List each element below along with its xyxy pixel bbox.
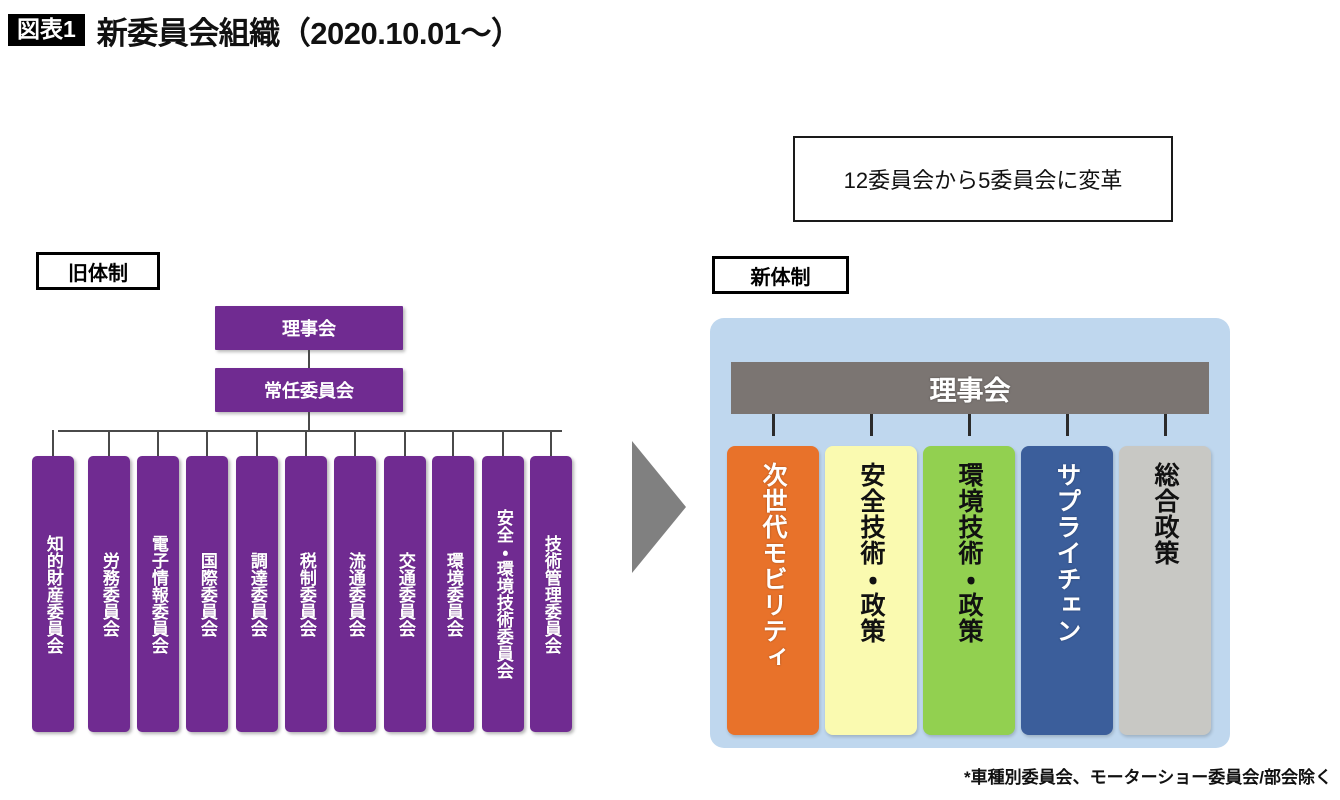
connector-drop (108, 430, 110, 456)
connector-drop (305, 430, 307, 456)
connector-drop (404, 430, 406, 456)
connector-board-to-standing (308, 350, 310, 368)
old-standing-committee-box: 常任委員会 (215, 368, 403, 412)
old-committee-label: 流通委員会 (346, 552, 364, 637)
new-committee-label: サプライチェン (1053, 462, 1081, 644)
old-committee-label: 国際委員会 (198, 552, 216, 637)
old-committee-box: 調達委員会 (236, 456, 278, 732)
old-committee-label: 技術管理委員会 (542, 535, 560, 654)
new-committee-box: 環境技術・政策 (923, 446, 1015, 735)
new-connector-drop (1066, 414, 1069, 436)
old-committee-box: 国際委員会 (186, 456, 228, 732)
new-connector-drop (772, 414, 775, 436)
old-committee-box: 電子情報委員会 (137, 456, 179, 732)
new-committee-box: サプライチェン (1021, 446, 1113, 735)
old-committee-box: 環境委員会 (432, 456, 474, 732)
old-committee-box: 労務委員会 (88, 456, 130, 732)
old-committee-label: 労務委員会 (100, 552, 118, 637)
old-committee-label: 知的財産委員会 (44, 535, 62, 654)
old-committee-box: 流通委員会 (334, 456, 376, 732)
new-system-label-text: 新体制 (751, 261, 811, 290)
old-committee-label: 電子情報委員会 (149, 535, 167, 654)
old-committee-label: 交通委員会 (396, 552, 414, 637)
new-connector-drop (870, 414, 873, 436)
new-committee-box: 総合政策 (1119, 446, 1211, 735)
old-committee-box: 税制委員会 (285, 456, 327, 732)
connector-drop (502, 430, 504, 456)
connector-drop (452, 430, 454, 456)
transition-arrow-icon (632, 441, 686, 573)
callout-box: 12委員会から5委員会に変革 (793, 136, 1173, 222)
new-committee-label: 総合政策 (1151, 462, 1179, 566)
connector-standing-to-bus (308, 412, 310, 432)
connector-drop (550, 430, 552, 456)
new-committee-box: 安全技術・政策 (825, 446, 917, 735)
connector-drop (206, 430, 208, 456)
new-system-label: 新体制 (712, 256, 849, 294)
footnote: *車種別委員会、モーターショー委員会/部会除く (964, 763, 1332, 788)
connector-drop (256, 430, 258, 456)
new-committee-label: 次世代モビリティ (759, 462, 787, 670)
connector-bus-horizontal (58, 430, 562, 432)
old-committee-label: 安全・環境技術委員会 (494, 509, 512, 679)
connector-drop (354, 430, 356, 456)
callout-text: 12委員会から5委員会に変革 (844, 163, 1123, 195)
old-committee-label: 税制委員会 (297, 552, 315, 637)
old-system-chart: 理事会 常任委員会 知的財産委員会労務委員会電子情報委員会国際委員会調達委員会税… (0, 0, 640, 800)
old-committee-box: 交通委員会 (384, 456, 426, 732)
new-committee-box: 次世代モビリティ (727, 446, 819, 735)
old-board-label: 理事会 (282, 315, 336, 341)
new-connector-drop (968, 414, 971, 436)
new-board-box: 理事会 (731, 362, 1209, 414)
old-committee-label: 環境委員会 (444, 552, 462, 637)
old-committee-box: 安全・環境技術委員会 (482, 456, 524, 732)
old-standing-committee-label: 常任委員会 (264, 377, 354, 403)
connector-drop (157, 430, 159, 456)
old-board-box: 理事会 (215, 306, 403, 350)
connector-drop (52, 430, 54, 456)
diagram-canvas: 図表1 新委員会組織（2020.10.01～） 12委員会から5委員会に変革 旧… (0, 0, 1340, 800)
old-committee-label: 調達委員会 (248, 552, 266, 637)
new-committee-label: 安全技術・政策 (857, 462, 885, 644)
old-committee-box: 知的財産委員会 (32, 456, 74, 732)
new-connector-drop (1164, 414, 1167, 436)
new-committee-label: 環境技術・政策 (955, 462, 983, 644)
new-board-label: 理事会 (930, 369, 1011, 408)
old-committee-box: 技術管理委員会 (530, 456, 572, 732)
